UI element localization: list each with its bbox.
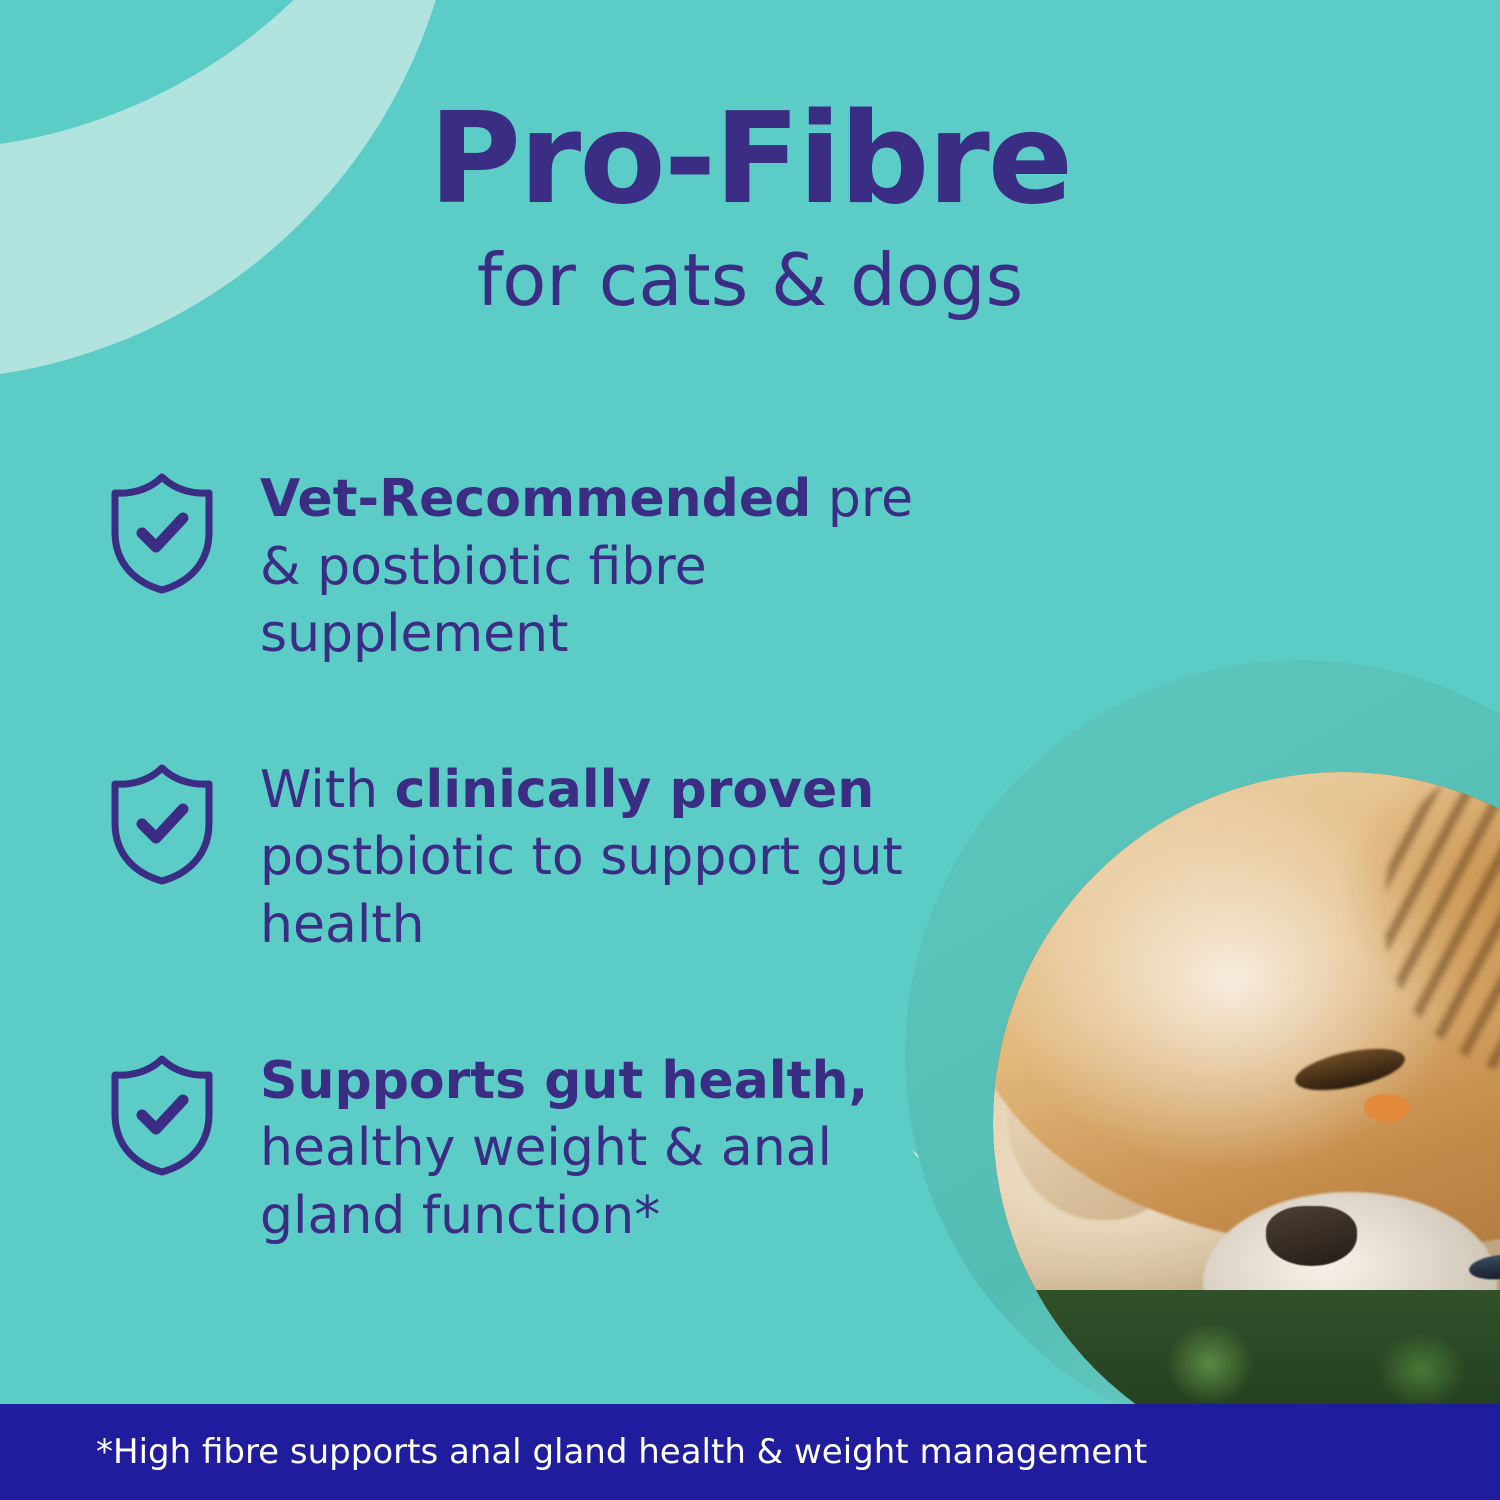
benefit-prefix-2: With <box>260 760 395 820</box>
photo-dog-nose <box>1266 1206 1357 1266</box>
pet-photo <box>993 772 1500 1472</box>
page-title: Pro-Fibre <box>0 96 1500 222</box>
footer-disclaimer-text: *High fibre supports anal gland health &… <box>0 1432 1147 1472</box>
headline-block: Pro-Fibre for cats & dogs <box>0 96 1500 316</box>
benefit-item-2: With clinically proven postbiotic to sup… <box>104 753 914 960</box>
benefit-rest-2: postbiotic to support gut health <box>260 827 903 955</box>
benefit-lead-3: Supports gut health, <box>260 1051 868 1111</box>
photo-cat-nose <box>1364 1094 1410 1122</box>
benefit-text-1: Vet-Recommended pre & postbiotic fibre s… <box>260 462 914 669</box>
shield-check-icon <box>104 1052 220 1178</box>
shield-check-icon <box>104 761 220 887</box>
benefit-lead-1: Vet-Recommended <box>260 469 811 529</box>
page-subtitle: for cats & dogs <box>0 244 1500 316</box>
benefit-item-1: Vet-Recommended pre & postbiotic fibre s… <box>104 462 914 669</box>
benefit-text-2: With clinically proven postbiotic to sup… <box>260 753 914 960</box>
shield-check-icon <box>104 470 220 596</box>
product-feature-banner: Pro-Fibre for cats & dogs Vet-Recommende… <box>0 0 1500 1500</box>
benefits-list: Vet-Recommended pre & postbiotic fibre s… <box>104 462 914 1250</box>
benefit-text-3: Supports gut health, healthy weight & an… <box>260 1044 914 1251</box>
footer-disclaimer-bar: *High fibre supports anal gland health &… <box>0 1404 1500 1500</box>
benefit-bold-2: clinically proven <box>395 760 875 820</box>
benefit-item-3: Supports gut health, healthy weight & an… <box>104 1044 914 1251</box>
benefit-rest-3: healthy weight & anal gland function* <box>260 1118 832 1246</box>
